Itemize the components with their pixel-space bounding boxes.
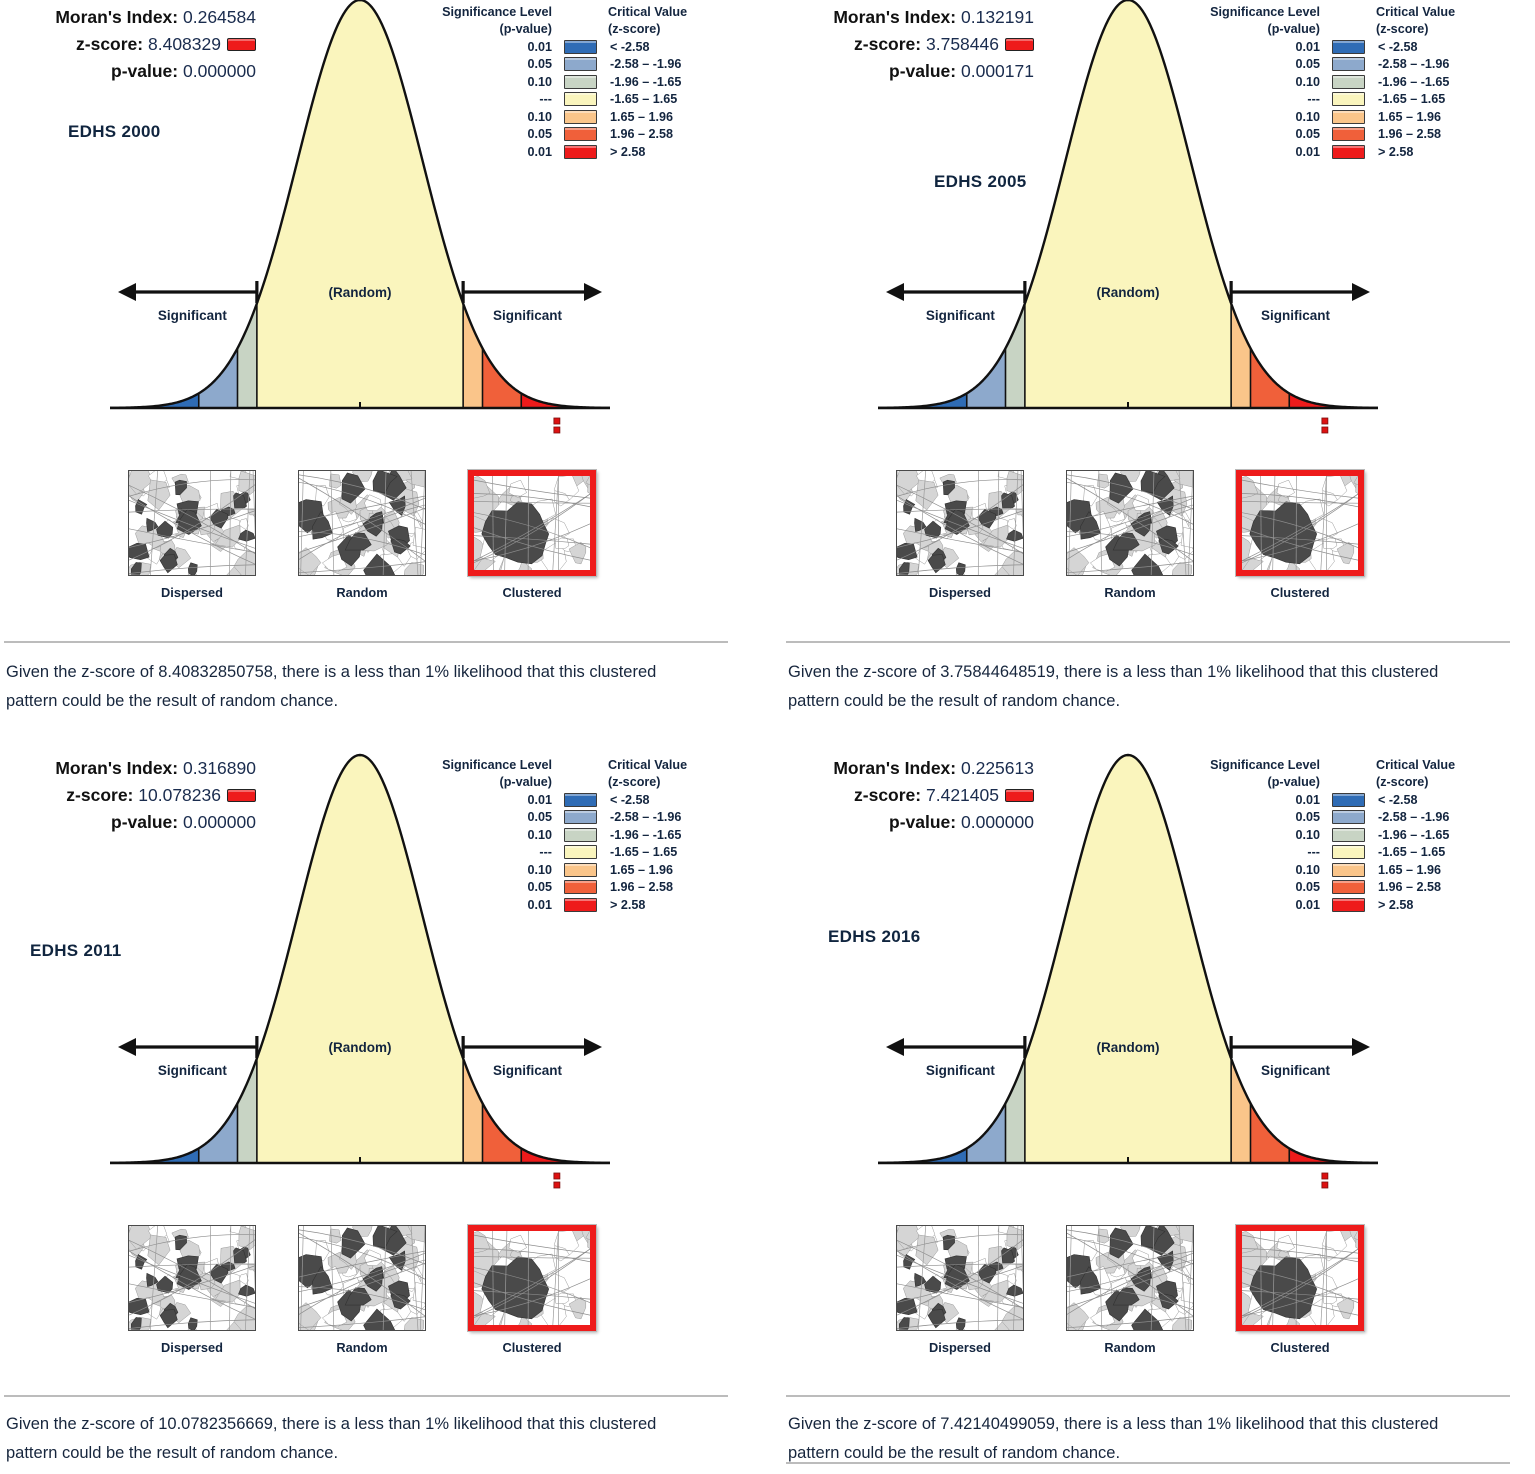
legend-critical-value: < -2.58 — [608, 40, 730, 54]
map-thumbnail-image — [1236, 470, 1364, 576]
normal-curve-chart: SignificantSignificant(Random) — [878, 0, 1378, 440]
map-thumbnail-image — [298, 470, 426, 576]
svg-text:Significant: Significant — [1261, 1063, 1331, 1078]
map-thumbnail-image — [298, 1225, 426, 1331]
legend-critical-value: -1.65 – 1.65 — [1376, 92, 1498, 106]
thumbnail-dispersed: Dispersed — [896, 1225, 1024, 1355]
legend-critical-value: 1.65 – 1.96 — [608, 863, 730, 877]
legend-critical-value: 1.65 – 1.96 — [1376, 863, 1498, 877]
legend-critical-value: > 2.58 — [608, 898, 730, 912]
map-thumbnail-image — [1236, 1225, 1364, 1331]
map-thumbnail-image — [896, 1225, 1024, 1331]
legend-critical-value: -2.58 – -1.96 — [608, 57, 730, 71]
legend-critical-value: -2.58 – -1.96 — [608, 810, 730, 824]
thumbnail-random: Random — [298, 470, 426, 600]
legend-critical-value: -1.96 – -1.65 — [1376, 828, 1498, 842]
interpretation-caption: Given the z-score of 10.0782356669, ther… — [6, 1410, 706, 1468]
normal-curve-chart: SignificantSignificant(Random) — [110, 0, 610, 440]
legend-crit-header: Critical Value(z-score) — [608, 4, 728, 38]
normal-curve-chart: SignificantSignificant(Random) — [878, 745, 1378, 1195]
map-thumbnail-image — [128, 470, 256, 576]
survey-title: EDHS 2011 — [30, 941, 122, 961]
map-thumbnail-image — [468, 470, 596, 576]
legend-critical-value: -1.96 – -1.65 — [608, 828, 730, 842]
thumbnail-caption: Random — [298, 585, 426, 600]
thumbnail-random: Random — [298, 1225, 426, 1355]
thumbnail-random: Random — [1066, 1225, 1194, 1355]
thumbnail-caption: Clustered — [1236, 1340, 1364, 1355]
map-thumbnail-image — [1066, 470, 1194, 576]
svg-text:(Random): (Random) — [1097, 1040, 1160, 1055]
thumbnail-clustered: Clustered — [1236, 1225, 1364, 1355]
legend-critical-value: > 2.58 — [1376, 145, 1498, 159]
legend-critical-value: -1.65 – 1.65 — [1376, 845, 1498, 859]
thumbnail-dispersed: Dispersed — [128, 470, 256, 600]
legend-crit-header: Critical Value(z-score) — [608, 757, 728, 791]
legend-critical-value: 1.96 – 2.58 — [1376, 880, 1498, 894]
legend-critical-value: 1.65 – 1.96 — [1376, 110, 1498, 124]
map-thumbnail-image — [128, 1225, 256, 1331]
thumbnail-caption: Random — [1066, 585, 1194, 600]
panel-edhs-2000: Moran's Index: 0.264584 z-score: 8.40832… — [0, 0, 767, 737]
thumbnail-caption: Dispersed — [128, 1340, 256, 1355]
svg-text:Significant: Significant — [493, 308, 563, 323]
legend-critical-value: 1.96 – 2.58 — [608, 127, 730, 141]
svg-text:Significant: Significant — [926, 1063, 996, 1078]
section-divider — [786, 1395, 1510, 1397]
legend-critical-value: -1.65 – 1.65 — [608, 92, 730, 106]
legend-critical-value: 1.96 – 2.58 — [608, 880, 730, 894]
legend-critical-value: < -2.58 — [608, 793, 730, 807]
legend-critical-value: -2.58 – -1.96 — [1376, 57, 1498, 71]
thumbnail-caption: Random — [1066, 1340, 1194, 1355]
section-divider — [4, 641, 728, 643]
section-divider — [4, 1395, 728, 1397]
svg-text:Significant: Significant — [926, 308, 996, 323]
thumbnail-clustered: Clustered — [468, 470, 596, 600]
svg-text:(Random): (Random) — [329, 285, 392, 300]
section-divider-bottom — [786, 1462, 1510, 1464]
thumbnail-random: Random — [1066, 470, 1194, 600]
thumbnail-caption: Random — [298, 1340, 426, 1355]
svg-text:(Random): (Random) — [1097, 285, 1160, 300]
map-thumbnail-image — [1066, 1225, 1194, 1331]
legend-critical-value: -1.96 – -1.65 — [1376, 75, 1498, 89]
legend-critical-value: > 2.58 — [608, 145, 730, 159]
svg-text:(Random): (Random) — [329, 1040, 392, 1055]
map-thumbnail-image — [896, 470, 1024, 576]
legend-critical-value: 1.96 – 2.58 — [1376, 127, 1498, 141]
legend-critical-value: -1.65 – 1.65 — [608, 845, 730, 859]
thumbnail-caption: Clustered — [1236, 585, 1364, 600]
panel-edhs-2016: Moran's Index: 0.225613 z-score: 7.42140… — [768, 737, 1535, 1474]
legend-crit-header: Critical Value(z-score) — [1376, 4, 1496, 38]
thumbnail-caption: Clustered — [468, 585, 596, 600]
thumbnail-clustered: Clustered — [468, 1225, 596, 1355]
thumbnail-caption: Dispersed — [896, 585, 1024, 600]
legend-critical-value: 1.65 – 1.96 — [608, 110, 730, 124]
panel-edhs-2011: Moran's Index: 0.316890 z-score: 10.0782… — [0, 737, 767, 1474]
svg-text:Significant: Significant — [158, 1063, 228, 1078]
svg-text:Significant: Significant — [158, 308, 228, 323]
svg-text:Significant: Significant — [493, 1063, 563, 1078]
thumbnail-caption: Clustered — [468, 1340, 596, 1355]
pattern-thumbnails: DispersedRandomClustered — [896, 1225, 1364, 1355]
section-divider — [786, 641, 1510, 643]
panel-edhs-2005: Moran's Index: 0.132191 z-score: 3.75844… — [768, 0, 1535, 737]
thumbnail-clustered: Clustered — [1236, 470, 1364, 600]
thumbnail-dispersed: Dispersed — [896, 470, 1024, 600]
legend-critical-value: < -2.58 — [1376, 793, 1498, 807]
interpretation-caption: Given the z-score of 7.42140499059, ther… — [788, 1410, 1488, 1468]
thumbnail-caption: Dispersed — [896, 1340, 1024, 1355]
legend-critical-value: > 2.58 — [1376, 898, 1498, 912]
morans-i-report-sheet: Moran's Index: 0.264584 z-score: 8.40832… — [0, 0, 1535, 1474]
interpretation-caption: Given the z-score of 8.40832850758, ther… — [6, 658, 706, 716]
thumbnail-dispersed: Dispersed — [128, 1225, 256, 1355]
legend-critical-value: -1.96 – -1.65 — [608, 75, 730, 89]
pattern-thumbnails: DispersedRandomClustered — [128, 1225, 596, 1355]
pattern-thumbnails: DispersedRandomClustered — [128, 470, 596, 600]
map-thumbnail-image — [468, 1225, 596, 1331]
legend-crit-header: Critical Value(z-score) — [1376, 757, 1496, 791]
interpretation-caption: Given the z-score of 3.75844648519, ther… — [788, 658, 1488, 716]
pattern-thumbnails: DispersedRandomClustered — [896, 470, 1364, 600]
svg-text:Significant: Significant — [1261, 308, 1331, 323]
normal-curve-chart: SignificantSignificant(Random) — [110, 745, 610, 1195]
legend-critical-value: -2.58 – -1.96 — [1376, 810, 1498, 824]
legend-critical-value: < -2.58 — [1376, 40, 1498, 54]
thumbnail-caption: Dispersed — [128, 585, 256, 600]
